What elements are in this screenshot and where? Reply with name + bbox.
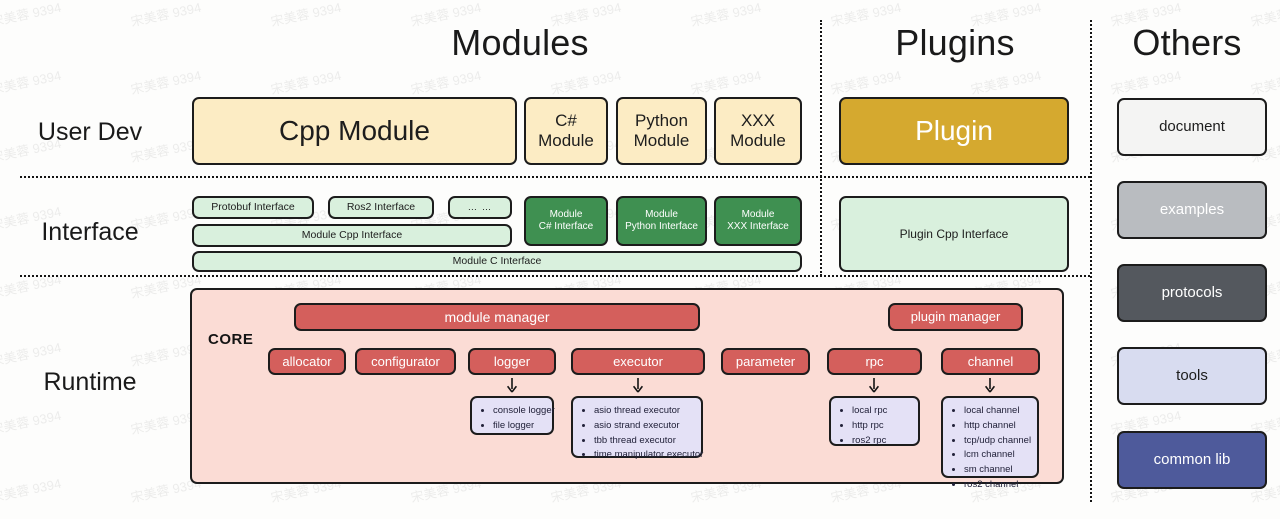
list-item: http rpc (852, 419, 910, 434)
rpc-implementations: local rpchttp rpcros2 rpc (829, 396, 920, 446)
channel-implementations-list: local channelhttp channeltcp/udp channel… (951, 404, 1029, 493)
list-item: ros2 channel (964, 478, 1029, 493)
module-csharp-label: C# Module (538, 111, 594, 152)
list-item: asio thread executor (594, 404, 693, 419)
separator-interface-runtime (20, 275, 1090, 277)
others-common-lib-label: common lib (1154, 451, 1231, 469)
interface-module-xxx[interactable]: Module XXX Interface (714, 196, 802, 246)
others-document-label: document (1159, 118, 1225, 136)
watermark-text: 宋美蓉 9394 (0, 473, 63, 506)
interface-module-c-label: Module C Interface (453, 255, 542, 268)
others-examples[interactable]: examples (1117, 181, 1267, 239)
watermark-text: 宋美蓉 9394 (0, 337, 63, 370)
interface-module-cpp[interactable]: Module Cpp Interface (192, 224, 512, 247)
module-python[interactable]: Python Module (616, 97, 707, 165)
separator-plugins-others (1090, 20, 1092, 502)
arrow-down-executor (630, 378, 646, 394)
list-item: local channel (964, 404, 1029, 419)
module-manager-label: module manager (444, 309, 549, 326)
plugin-manager[interactable]: plugin manager (888, 303, 1023, 331)
watermark-text: 宋美蓉 9394 (269, 65, 343, 98)
column-title-plugins: Plugins (824, 22, 1086, 64)
list-item: file logger (493, 419, 544, 434)
module-manager[interactable]: module manager (294, 303, 700, 331)
channel-implementations: local channelhttp channeltcp/udp channel… (941, 396, 1039, 478)
plugin-label: Plugin (915, 114, 993, 148)
rpc-implementations-list: local rpchttp rpcros2 rpc (839, 404, 910, 448)
interface-module-cpp-label: Module Cpp Interface (302, 229, 402, 242)
list-item: sm channel (964, 463, 1029, 478)
others-protocols-label: protocols (1162, 284, 1223, 302)
logger-implementations-list: console loggerfile logger (480, 404, 544, 434)
others-document[interactable]: document (1117, 98, 1267, 156)
logger-implementations: console loggerfile logger (470, 396, 554, 435)
others-common-lib[interactable]: common lib (1117, 431, 1267, 489)
watermark-text: 宋美蓉 9394 (409, 65, 483, 98)
watermark-text: 宋美蓉 9394 (129, 65, 203, 98)
list-item: time manipulator executor (594, 448, 693, 463)
watermark-text: 宋美蓉 9394 (829, 65, 903, 98)
column-title-others: Others (1094, 22, 1280, 64)
interface-module-xxx-label: Module XXX Interface (727, 209, 789, 233)
watermark-text: 宋美蓉 9394 (1109, 65, 1183, 98)
core-parameter[interactable]: parameter (721, 348, 810, 375)
core-configurator-label: configurator (371, 354, 440, 370)
watermark-text: 宋美蓉 9394 (0, 0, 63, 30)
watermark-text: 宋美蓉 9394 (1249, 65, 1280, 98)
arrow-down-rpc (866, 378, 882, 394)
list-item: http channel (964, 419, 1029, 434)
core-parameter-label: parameter (736, 354, 795, 370)
core-allocator-label: allocator (282, 354, 331, 370)
architecture-diagram: 宋美蓉 9394宋美蓉 9394宋美蓉 9394宋美蓉 9394宋美蓉 9394… (0, 0, 1280, 519)
watermark-text: 宋美蓉 9394 (0, 65, 63, 98)
list-item: ros2 rpc (852, 434, 910, 449)
module-python-label: Python Module (634, 111, 690, 152)
arrow-down-logger (504, 378, 520, 394)
watermark-text: 宋美蓉 9394 (0, 405, 63, 438)
interface-module-csharp-label: Module C# Interface (539, 209, 593, 233)
watermark-text: 宋美蓉 9394 (689, 65, 763, 98)
module-cpp[interactable]: Cpp Module (192, 97, 517, 165)
row-label-interface: Interface (0, 218, 180, 247)
row-label-user-dev: User Dev (0, 118, 180, 147)
module-csharp[interactable]: C# Module (524, 97, 608, 165)
others-protocols[interactable]: protocols (1117, 264, 1267, 322)
list-item: local rpc (852, 404, 910, 419)
interface-ros2-label: Ros2 Interface (347, 201, 415, 214)
list-item: tbb thread executor (594, 434, 693, 449)
interface-more[interactable]: … … (448, 196, 512, 219)
list-item: console logger (493, 404, 544, 419)
interface-protobuf-label: Protobuf Interface (211, 201, 294, 214)
list-item: tcp/udp channel (964, 434, 1029, 449)
row-label-runtime: Runtime (0, 368, 180, 397)
others-tools-label: tools (1176, 367, 1208, 385)
core-label: CORE (208, 331, 253, 348)
module-cpp-label: Cpp Module (279, 114, 430, 148)
interface-module-python-label: Module Python Interface (625, 209, 698, 233)
core-rpc-label: rpc (865, 354, 883, 370)
interface-module-csharp[interactable]: Module C# Interface (524, 196, 608, 246)
separator-userdev-interface (20, 176, 1090, 178)
watermark-text: 宋美蓉 9394 (0, 269, 63, 302)
others-tools[interactable]: tools (1117, 347, 1267, 405)
interface-more-label: … … (468, 202, 493, 213)
core-executor[interactable]: executor (571, 348, 705, 375)
core-logger[interactable]: logger (468, 348, 556, 375)
core-configurator[interactable]: configurator (355, 348, 456, 375)
interface-module-c[interactable]: Module C Interface (192, 251, 802, 272)
executor-implementations-list: asio thread executorasio strand executor… (581, 404, 693, 463)
interface-plugin-cpp[interactable]: Plugin Cpp Interface (839, 196, 1069, 272)
core-channel[interactable]: channel (941, 348, 1040, 375)
list-item: asio strand executor (594, 419, 693, 434)
core-channel-label: channel (968, 354, 1014, 370)
interface-ros2[interactable]: Ros2 Interface (328, 196, 434, 219)
list-item: lcm channel (964, 448, 1029, 463)
arrow-down-channel (982, 378, 998, 394)
plugin-box[interactable]: Plugin (839, 97, 1069, 165)
interface-plugin-cpp-label: Plugin Cpp Interface (900, 227, 1009, 241)
executor-implementations: asio thread executorasio strand executor… (571, 396, 703, 458)
watermark-text: 宋美蓉 9394 (549, 65, 623, 98)
core-rpc[interactable]: rpc (827, 348, 922, 375)
module-xxx[interactable]: XXX Module (714, 97, 802, 165)
core-logger-label: logger (494, 354, 530, 370)
core-allocator[interactable]: allocator (268, 348, 346, 375)
interface-module-python[interactable]: Module Python Interface (616, 196, 707, 246)
others-examples-label: examples (1160, 201, 1224, 219)
watermark-text: 宋美蓉 9394 (969, 65, 1043, 98)
interface-protobuf[interactable]: Protobuf Interface (192, 196, 314, 219)
plugin-manager-label: plugin manager (911, 309, 1001, 325)
core-executor-label: executor (613, 354, 663, 370)
column-title-modules: Modules (190, 22, 850, 64)
module-xxx-label: XXX Module (730, 111, 786, 152)
